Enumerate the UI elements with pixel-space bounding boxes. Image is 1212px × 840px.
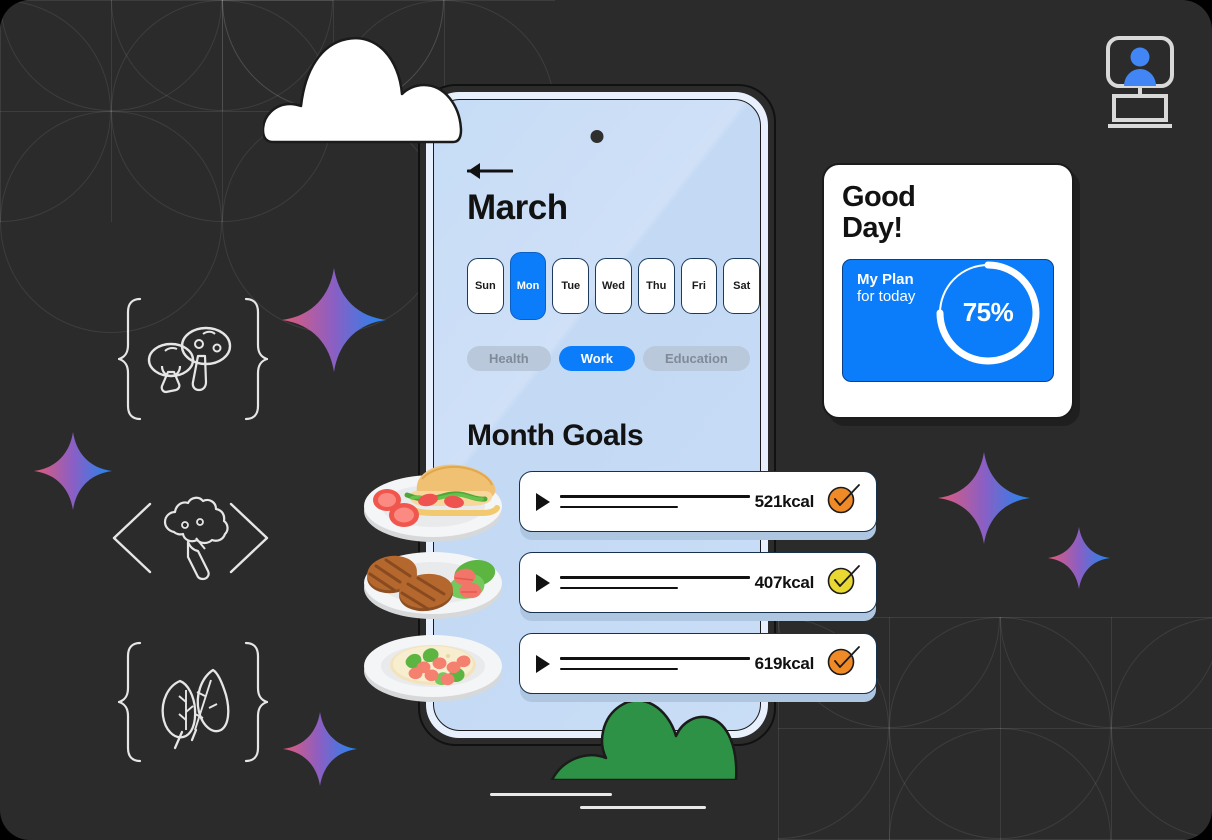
day-chip-thu[interactable]: Thu <box>638 258 675 314</box>
back-arrow-icon <box>467 162 513 180</box>
poster-canvas: March Sun Mon Tue Wed Thu Fri Sat Health <box>0 0 1212 840</box>
day-chip-tue[interactable]: Tue <box>552 258 589 314</box>
leaf-bush-shape <box>550 694 740 785</box>
day-selector[interactable]: Sun Mon Tue Wed Thu Fri Sat <box>467 258 760 320</box>
cloud-shape <box>263 30 491 153</box>
play-triangle-icon[interactable] <box>536 574 550 592</box>
day-chip-wed[interactable]: Wed <box>595 258 632 314</box>
tab-education[interactable]: Education <box>643 346 750 371</box>
good-day-card: Good Day! My Plan for today 75% <box>822 163 1074 419</box>
base-line-1 <box>490 793 612 796</box>
back-button[interactable] <box>467 162 513 180</box>
presentation-person-icon <box>1104 36 1176 133</box>
check-circle-icon[interactable] <box>826 565 862 600</box>
day-chip-mon[interactable]: Mon <box>510 252 547 320</box>
day-label: Sun <box>475 280 496 292</box>
camera-dot-icon <box>591 130 604 143</box>
shrimp-plate-illustration <box>362 620 504 711</box>
steak-plate-illustration <box>362 536 504 629</box>
deco-mushrooms-brace <box>118 296 268 436</box>
goal-list: 521kcal 407kcal <box>519 471 877 694</box>
tab-work[interactable]: Work <box>559 346 635 371</box>
goal-placeholder-lines <box>560 576 750 589</box>
check-circle-icon[interactable] <box>826 484 862 519</box>
my-plan-panel[interactable]: My Plan for today 75% <box>842 259 1054 382</box>
deco-broccoli-angle <box>108 486 273 596</box>
goal-placeholder-lines <box>560 495 750 508</box>
deco-spinach-brace <box>118 640 268 777</box>
day-label: Sat <box>733 280 750 292</box>
progress-ring: 75% <box>929 259 1047 377</box>
check-circle-icon[interactable] <box>826 646 862 681</box>
play-triangle-icon[interactable] <box>536 655 550 673</box>
day-chip-fri[interactable]: Fri <box>681 258 718 314</box>
sparkle-decoration <box>938 452 1030 549</box>
goal-calories: 619kcal <box>755 654 814 674</box>
goal-calories: 407kcal <box>755 573 814 593</box>
day-label: Mon <box>517 280 540 292</box>
day-chip-sun[interactable]: Sun <box>467 258 504 314</box>
good-day-title-line2: Day! <box>842 213 1054 244</box>
base-line-2 <box>580 806 706 809</box>
tab-health[interactable]: Health <box>467 346 551 371</box>
play-triangle-icon[interactable] <box>536 493 550 511</box>
sparkle-decoration <box>283 712 357 791</box>
good-day-title: Good Day! <box>842 182 1054 245</box>
month-title: March <box>467 188 760 228</box>
category-tabs[interactable]: Health Work Education <box>467 346 760 371</box>
day-chip-sat[interactable]: Sat <box>723 258 760 314</box>
goal-calories: 521kcal <box>755 492 814 512</box>
goal-row[interactable]: 521kcal <box>519 471 877 532</box>
good-day-title-line1: Good <box>842 182 1054 213</box>
goals-heading: Month Goals <box>467 419 760 453</box>
day-label: Thu <box>646 280 666 292</box>
day-label: Wed <box>602 280 625 292</box>
goal-row[interactable]: 619kcal <box>519 633 877 694</box>
sparkle-decoration <box>34 432 112 515</box>
goal-placeholder-lines <box>560 657 750 670</box>
day-label: Tue <box>561 280 580 292</box>
progress-label: 75% <box>929 259 1047 372</box>
sparkle-decoration <box>282 268 386 377</box>
goal-row[interactable]: 407kcal <box>519 552 877 613</box>
sparkle-decoration <box>1048 527 1110 594</box>
day-label: Fri <box>692 280 706 292</box>
